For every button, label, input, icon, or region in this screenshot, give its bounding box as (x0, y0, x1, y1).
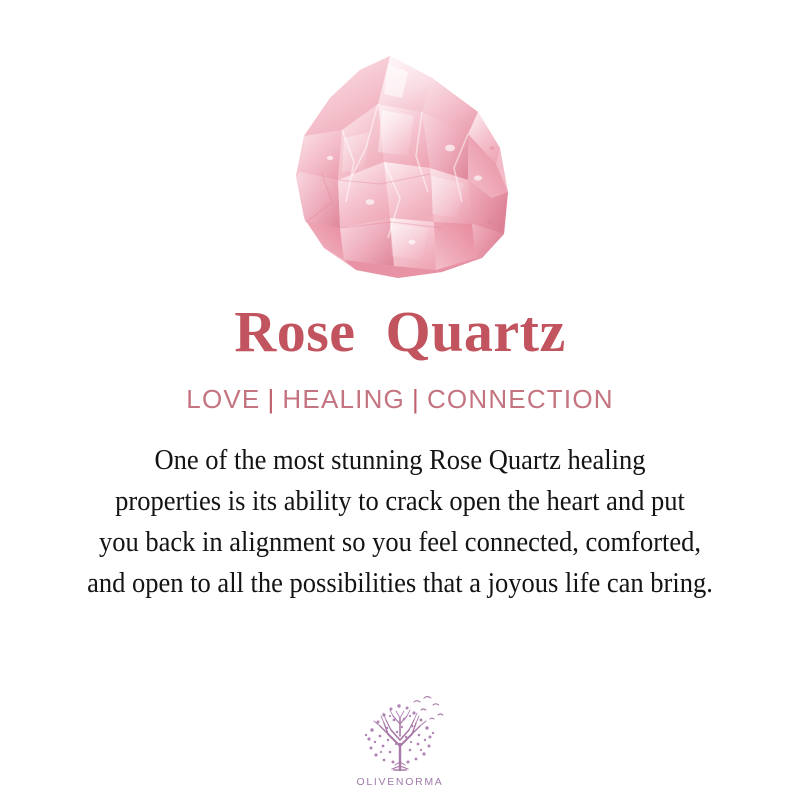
brand-logo: OLIVENORMA (0, 692, 800, 788)
keyword-love: LOVE (186, 386, 260, 412)
description-line: and open to all the possibilities that a… (47, 563, 754, 604)
rose-quartz-info-card: Rose Quartz LOVE | HEALING | CONNECTION … (0, 0, 800, 800)
hero-image-area (0, 0, 800, 300)
brand-wordmark: OLIVENORMA (356, 776, 443, 788)
description-line: properties is its ability to crack open … (47, 481, 754, 522)
keyword-healing: HEALING (282, 386, 405, 412)
keyword-separator: | (260, 386, 282, 412)
rose-quartz-crystal-icon (282, 52, 522, 284)
description-line: you back in alignment so you feel connec… (47, 522, 754, 563)
tree-of-life-icon (354, 692, 446, 774)
keyword-connection: CONNECTION (427, 386, 614, 412)
keyword-subtitle: LOVE | HEALING | CONNECTION (186, 364, 613, 412)
page-title: Rose Quartz (234, 300, 565, 364)
description-line: One of the most stunning Rose Quartz hea… (47, 440, 754, 481)
keyword-separator: | (405, 386, 427, 412)
description-paragraph: One of the most stunning Rose Quartz hea… (47, 412, 754, 604)
